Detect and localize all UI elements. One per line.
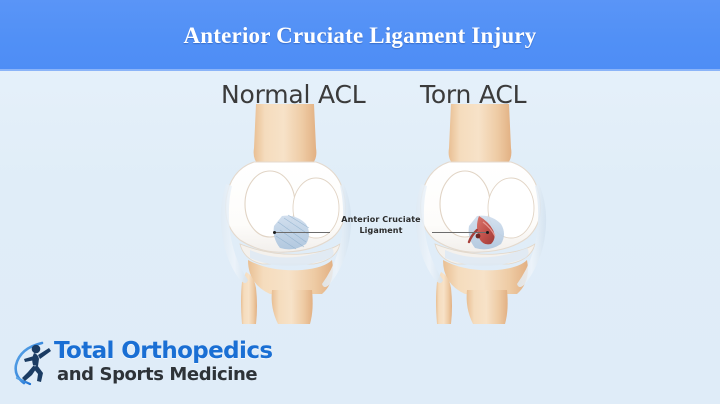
leader-dot-right [486, 231, 489, 234]
logo-line-primary: Total Orthopedics [54, 338, 272, 364]
slide-canvas: Anterior Cruciate Ligament Injury Normal… [0, 0, 720, 404]
annotation-line-2: Ligament [328, 225, 434, 236]
logo[interactable]: Total Orthopedics and Sports Medicine [12, 336, 227, 394]
leader-dot-left [273, 231, 276, 234]
athlete-figure-icon [12, 338, 58, 388]
logo-text: Total Orthopedics and Sports Medicine [54, 338, 272, 385]
title-banner: Anterior Cruciate Ligament Injury [0, 0, 720, 71]
banner-bottom-edge [0, 69, 720, 71]
page-title: Anterior Cruciate Ligament Injury [183, 23, 536, 49]
logo-line-secondary: and Sports Medicine [57, 364, 272, 385]
annotation-anterior-cruciate-ligament: Anterior Cruciate Ligament [328, 214, 434, 236]
leader-line-left [274, 232, 330, 233]
leader-line-right [432, 232, 488, 233]
annotation-line-1: Anterior Cruciate [328, 214, 434, 225]
